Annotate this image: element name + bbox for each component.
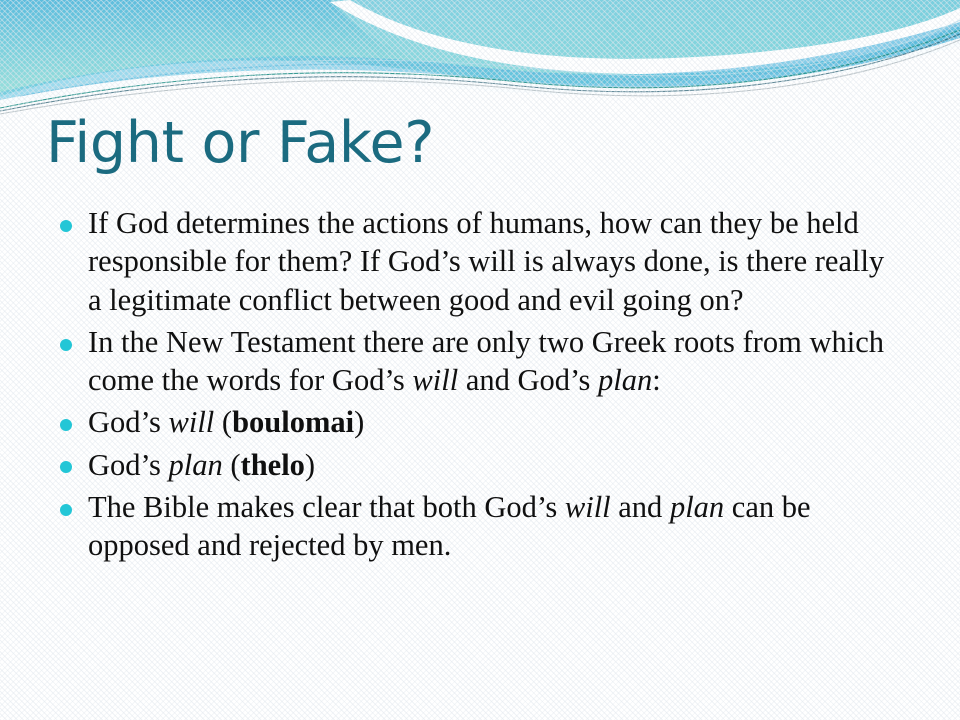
bullet-text-5: The Bible makes clear that both God’s wi… xyxy=(88,488,898,565)
bullet-text-4: God’s plan (thelo) xyxy=(88,446,898,484)
bullet-dot-icon xyxy=(60,339,72,351)
presentation-slide: Fight or Fake? If God determines the act… xyxy=(0,0,960,720)
bullet-item-1: If God determines the actions of humans,… xyxy=(52,204,898,319)
bullet-dot-icon xyxy=(60,461,72,473)
bullet-text-3: God’s will (boulomai) xyxy=(88,403,898,441)
bullet-dot-icon xyxy=(60,504,72,516)
bullet-text-2: In the New Testament there are only two … xyxy=(88,323,898,400)
bullet-text-1: If God determines the actions of humans,… xyxy=(88,204,898,319)
bullet-item-2: In the New Testament there are only two … xyxy=(52,323,898,400)
bullet-item-5: The Bible makes clear that both God’s wi… xyxy=(52,488,898,565)
decorative-banner xyxy=(0,0,960,118)
bullet-dot-icon xyxy=(60,419,72,431)
slide-title: Fight or Fake? xyxy=(46,112,434,176)
slide-body-bullet-list: If God determines the actions of humans,… xyxy=(52,204,898,564)
bullet-item-3: God’s will (boulomai) xyxy=(52,403,898,441)
bullet-item-4: God’s plan (thelo) xyxy=(52,446,898,484)
bullet-dot-icon xyxy=(60,220,72,232)
